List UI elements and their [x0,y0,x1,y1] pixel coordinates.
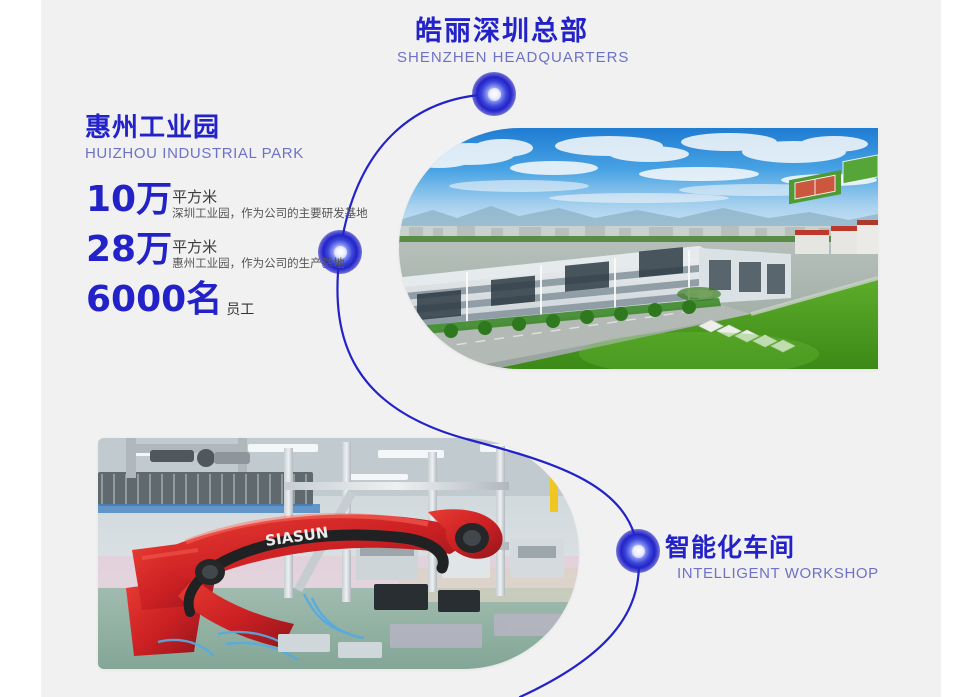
stat-item: 10万 平方米 深圳工业园，作为公司的主要研发基地 [86,178,368,228]
node-headquarters[interactable] [472,72,516,116]
stat-item: 6000名 员工 [86,278,368,328]
industrial-park-title-cn: 惠州工业园 [85,112,304,144]
stat-item: 28万 平方米 惠州工业园，作为公司的生产基地 [86,228,368,278]
workshop-heading: 智能化车间 INTELLIGENT WORKSHOP [665,532,879,584]
headquarters-aerial-photo [399,128,878,369]
infographic-root: SIASUN [0,0,980,697]
stat-description: 深圳工业园，作为公司的主要研发基地 [172,206,368,220]
industrial-park-heading: 惠州工业园 HUIZHOU INDUSTRIAL PARK [85,112,304,164]
node-workshop[interactable] [616,529,660,573]
stat-unit: 员工 [226,302,254,319]
stat-value: 6000名 [86,278,222,322]
workshop-title-cn: 智能化车间 [665,532,879,564]
headquarters-title-en: SHENZHEN HEADQUARTERS [397,48,629,68]
headquarters-heading: 皓丽深圳总部 SHENZHEN HEADQUARTERS [415,16,629,68]
stat-unit: 平方米 [172,239,345,256]
industrial-park-title-en: HUIZHOU INDUSTRIAL PARK [85,144,304,164]
stat-unit: 平方米 [172,189,368,206]
stat-value: 10万 [86,178,172,222]
workshop-title-en: INTELLIGENT WORKSHOP [677,564,879,584]
intelligent-workshop-photo: SIASUN [98,438,579,669]
headquarters-title-cn: 皓丽深圳总部 [415,16,629,48]
stat-value: 28万 [86,228,172,272]
stats-list: 10万 平方米 深圳工业园，作为公司的主要研发基地 28万 平方米 惠州工业园，… [86,178,368,328]
stat-description: 惠州工业园，作为公司的生产基地 [172,256,345,270]
